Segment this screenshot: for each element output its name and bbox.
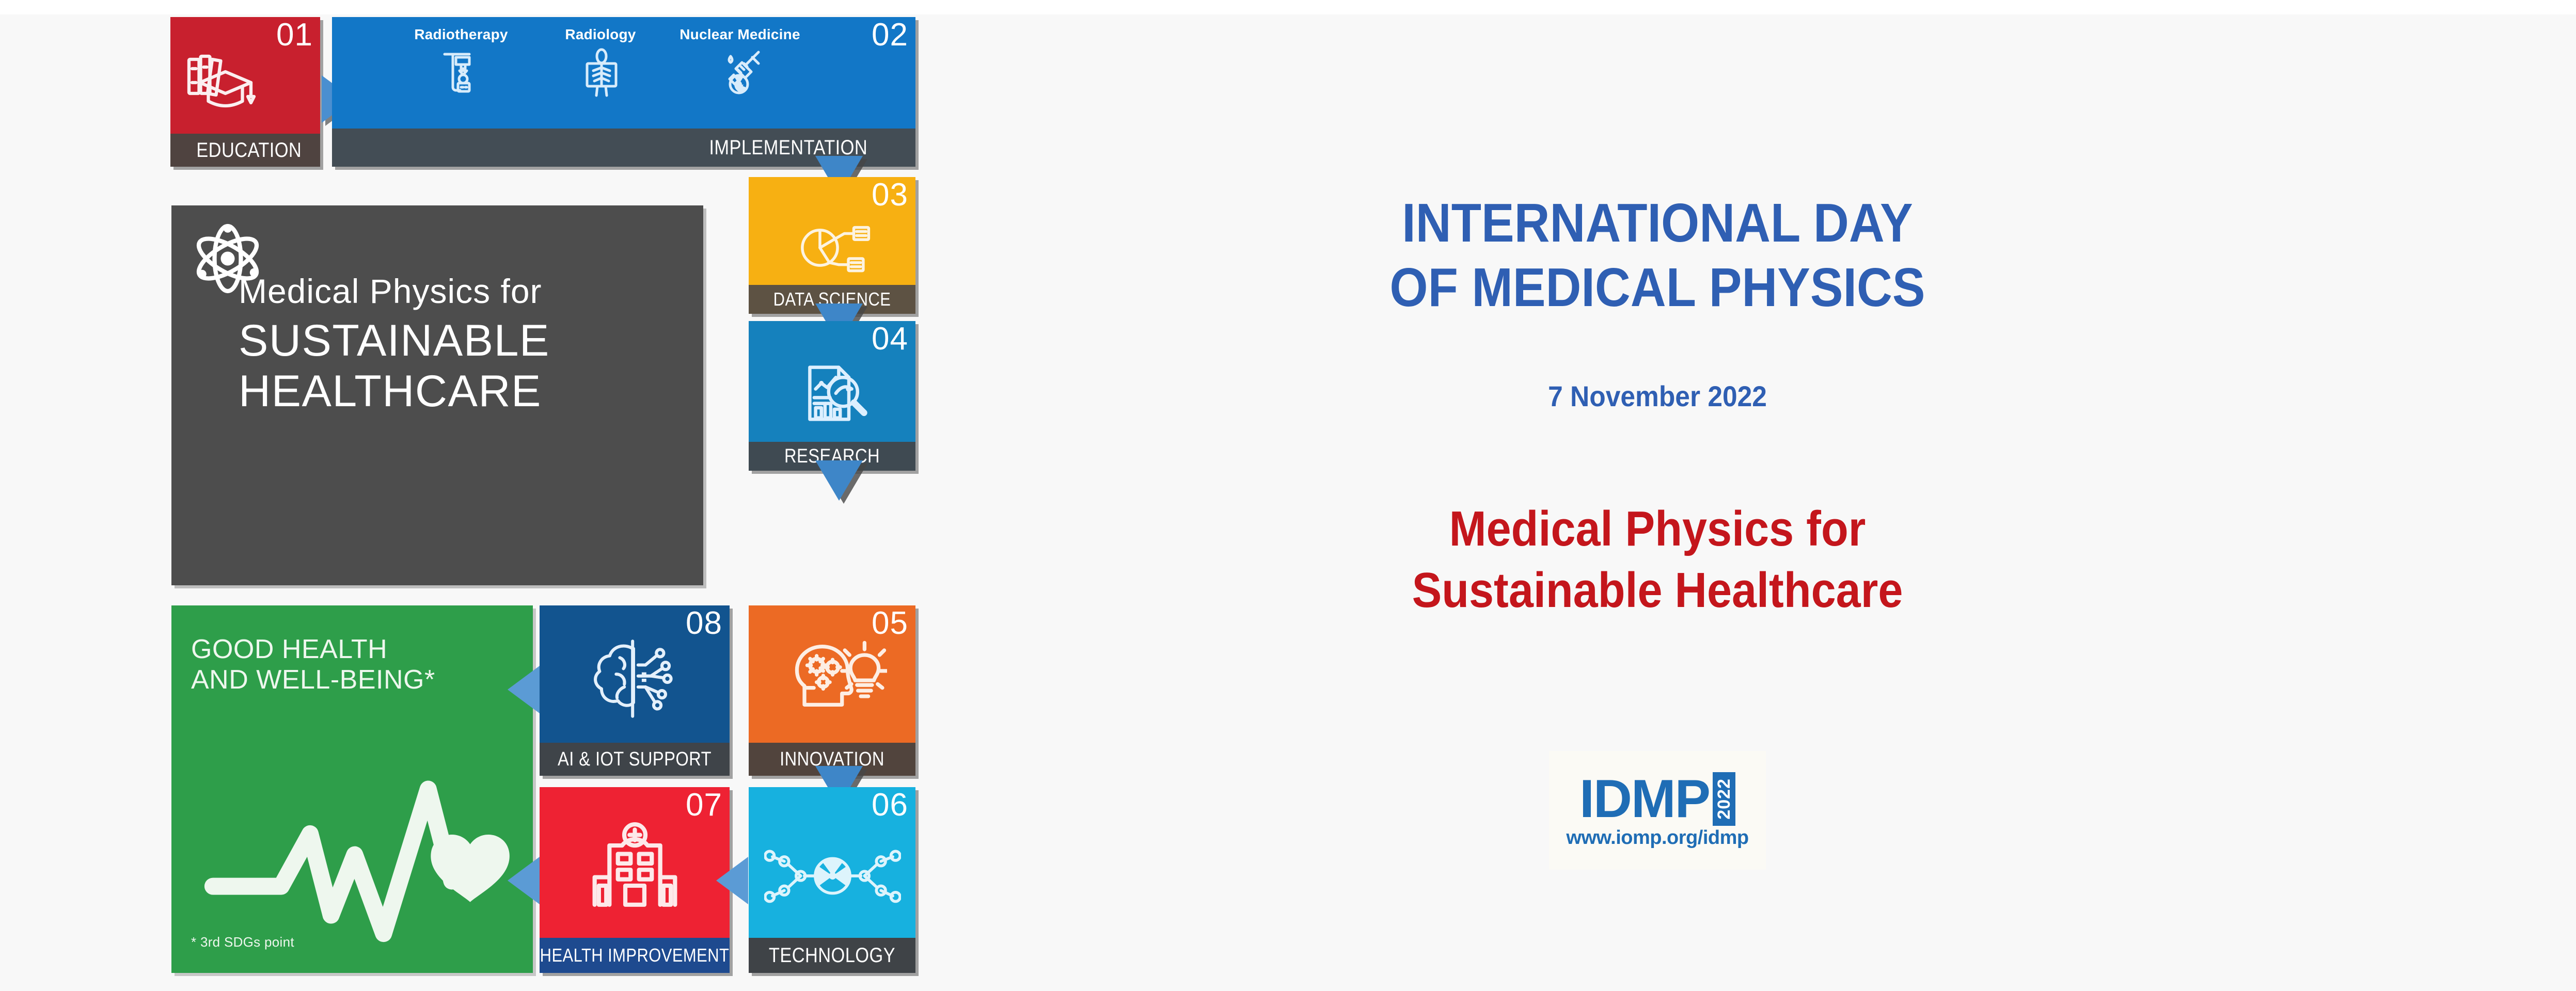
page-title: INTERNATIONAL DAY OF MEDICAL PHYSICS — [1262, 191, 2052, 320]
event-theme-line2: Sustainable Healthcare — [1262, 560, 2052, 621]
page-title-line1: INTERNATIONAL DAY — [1262, 191, 2052, 255]
ai-brain-circuit-icon — [585, 637, 686, 720]
tile-technology-label: TECHNOLOGY — [761, 938, 904, 973]
idmp-wordmark: IDMP — [1579, 772, 1710, 826]
head-gears-bulb-icon — [784, 633, 887, 718]
heartbeat-heart-icon — [200, 760, 515, 944]
document-magnifier-chart-icon — [798, 357, 871, 429]
poster-canvas: 01 EDUCATION — [0, 0, 2576, 991]
main-theme-line1: Medical Physics for — [239, 273, 693, 310]
tile-implementation[interactable]: 02 Radiotherapy Radiology — [332, 17, 915, 167]
tile-implementation-number: 02 — [872, 19, 908, 51]
connector-research-to-innovation — [815, 460, 863, 501]
right-text-panel: INTERNATIONAL DAY OF MEDICAL PHYSICS 7 N… — [1219, 0, 2096, 991]
tile-implementation-label: IMPLEMENTATION — [373, 129, 875, 167]
event-date: 7 November 2022 — [1254, 379, 2061, 413]
main-theme-line2: SUSTAINABLE — [239, 315, 693, 366]
tile-ai-iot-support-number: 08 — [686, 608, 722, 640]
sdg-good-health-panel: GOOD HEALTH AND WELL-BEING* * 3rd SDGs p… — [171, 605, 533, 973]
tile-education[interactable]: 01 EDUCATION — [170, 17, 320, 167]
syringe-radioactive-icon — [715, 47, 767, 99]
tile-ai-iot-support-label: AI & IOT SUPPORT — [553, 743, 716, 776]
radioactive-network-icon — [764, 844, 901, 908]
infographic-diagram: 01 EDUCATION — [170, 0, 929, 991]
tile-health-improvement[interactable]: 07 HEALTH IMPROVEMENT — [540, 787, 730, 973]
sub-caption-radiotherapy: Radiotherapy — [399, 26, 523, 43]
connector-health-improvement-to-sdg — [508, 857, 540, 904]
idmp-url: www.iomp.org/idmp — [1566, 827, 1748, 849]
idmp-logo-row: IDMP 2022 — [1579, 772, 1735, 826]
sdg-title-line2: AND WELL-BEING* — [191, 665, 435, 695]
tile-technology[interactable]: 06 — [749, 787, 915, 973]
tile-technology-number: 06 — [872, 789, 908, 821]
event-theme-line1: Medical Physics for — [1262, 498, 2052, 560]
sdg-panel-title: GOOD HEALTH AND WELL-BEING* — [191, 634, 435, 696]
idmp-year-badge: 2022 — [1713, 772, 1735, 826]
tile-health-improvement-number: 07 — [686, 789, 722, 821]
linac-radiotherapy-icon — [435, 47, 487, 99]
tile-innovation[interactable]: 05 INNOVATION — [749, 605, 915, 776]
tile-health-improvement-label: HEALTH IMPROVEMENT — [553, 938, 716, 973]
tile-data-science-number: 03 — [872, 179, 908, 211]
main-theme-text: Medical Physics for SUSTAINABLE HEALTHCA… — [239, 273, 693, 417]
books-graduation-cap-icon — [183, 47, 260, 124]
idmp-logo[interactable]: IDMP 2022 www.iomp.org/idmp — [1549, 751, 1766, 870]
tile-education-number: 01 — [276, 19, 313, 51]
tile-ai-iot-support[interactable]: 08 AI & IOT — [540, 605, 730, 776]
main-theme-line3: HEALTHCARE — [239, 366, 693, 417]
page-title-line2: OF MEDICAL PHYSICS — [1262, 255, 2052, 320]
tile-research-number: 04 — [872, 323, 908, 355]
hospital-building-icon — [582, 822, 688, 909]
tile-research[interactable]: 04 RESEARCH — [749, 321, 915, 471]
idmp-year-text: 2022 — [1714, 778, 1734, 820]
sub-caption-nuclear-medicine: Nuclear Medicine — [662, 26, 817, 43]
sdg-title-line1: GOOD HEALTH — [191, 634, 435, 665]
connector-ai-iot-to-sdg — [508, 666, 540, 713]
connector-technology-to-health-improvement — [716, 857, 748, 904]
event-theme: Medical Physics for Sustainable Healthca… — [1262, 498, 2052, 621]
tile-education-label: EDUCATION — [181, 134, 309, 167]
pie-chart-nodes-icon — [779, 217, 890, 278]
tile-data-science[interactable]: 03 DATA SCIENCE — [749, 177, 915, 314]
sub-caption-radiology: Radiology — [539, 26, 662, 43]
main-theme-panel: Medical Physics for SUSTAINABLE HEALTHCA… — [171, 205, 703, 585]
xray-body-icon — [576, 47, 627, 99]
sdg-footnote: * 3rd SDGs point — [191, 934, 294, 950]
